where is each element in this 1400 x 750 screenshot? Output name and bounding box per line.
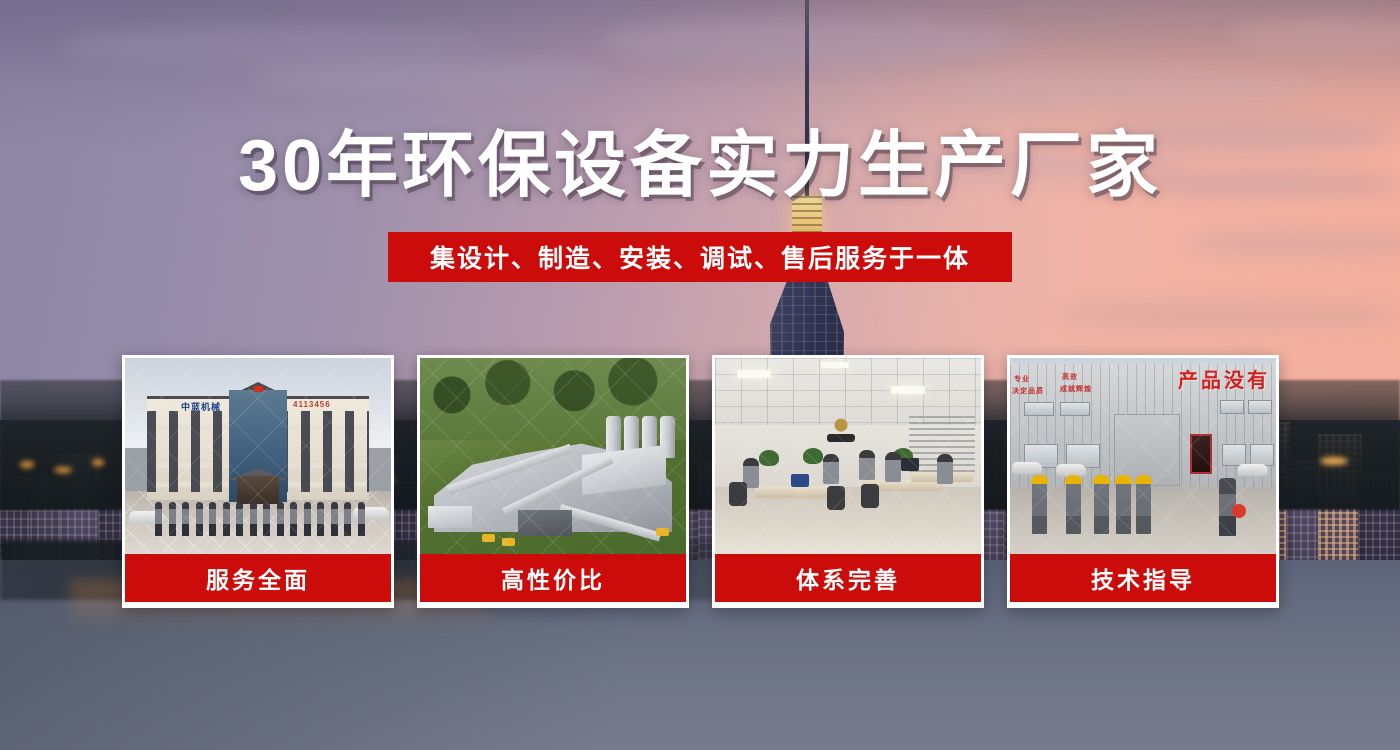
potted-plant xyxy=(759,450,779,466)
factory-window xyxy=(1250,444,1274,466)
factory-side-door xyxy=(1190,434,1212,474)
card-photo-office-building: 中蓝机械 4113456 xyxy=(125,358,391,554)
office-chair xyxy=(861,484,879,508)
promo-banner: 30年环保设备实力生产厂家 集设计、制造、安装、调试、售后服务于一体 中蓝机械 … xyxy=(0,0,1400,750)
staff-lineup xyxy=(155,502,365,536)
card-label-value: 高性价比 xyxy=(420,554,686,602)
cloud xyxy=(250,60,610,94)
feature-card-guidance[interactable]: 产品没有 专业 决定品质 高效 成就辉煌 xyxy=(1007,355,1279,608)
office-staff xyxy=(823,454,839,484)
worker xyxy=(1066,482,1081,534)
excavator xyxy=(482,534,495,542)
plant-shed xyxy=(518,510,572,536)
worker xyxy=(1136,482,1151,534)
cloud xyxy=(930,70,1310,106)
office-chair xyxy=(827,486,845,510)
wall-decal-icon xyxy=(825,416,857,442)
plant-shed xyxy=(428,506,472,528)
factory-window xyxy=(1060,402,1090,416)
factory-slogan-4: 成就辉煌 xyxy=(1060,386,1092,395)
office-chair xyxy=(729,482,747,506)
hard-hat-icon xyxy=(1135,475,1152,484)
potted-plant xyxy=(803,448,823,464)
worker xyxy=(1032,482,1047,534)
card-photo-office-interior xyxy=(715,358,981,554)
factory-window xyxy=(1220,400,1244,414)
card-label-guidance: 技术指导 xyxy=(1010,554,1276,602)
office-staff xyxy=(859,450,875,480)
factory-slogan-3: 高效 xyxy=(1062,374,1078,383)
factory-window xyxy=(1024,402,1054,416)
worker xyxy=(1116,482,1131,534)
company-phone-text: 4113456 xyxy=(293,400,331,409)
worker xyxy=(1094,482,1109,534)
subtitle-banner: 集设计、制造、安装、调试、售后服务于一体 xyxy=(388,232,1012,282)
laptop xyxy=(791,474,809,487)
ceiling-light xyxy=(891,386,925,394)
hard-hat-icon xyxy=(1031,475,1048,484)
card-label-service: 服务全面 xyxy=(125,554,391,602)
ceiling-light xyxy=(737,370,771,378)
hard-hat-icon xyxy=(1093,475,1110,484)
office-ceiling xyxy=(715,358,981,425)
hard-hat-icon xyxy=(1115,475,1132,484)
factory-window xyxy=(1248,400,1272,414)
card-photo-plant-aerial xyxy=(420,358,686,554)
page-title: 30年环保设备实力生产厂家 xyxy=(0,128,1400,206)
monitor xyxy=(901,458,919,471)
feature-card-system[interactable]: 体系完善 xyxy=(712,355,984,608)
excavator xyxy=(656,528,669,536)
office-staff xyxy=(885,452,901,482)
ceiling-light xyxy=(821,362,849,368)
car xyxy=(1012,462,1042,474)
flag-icon xyxy=(254,386,263,392)
feature-card-service[interactable]: 中蓝机械 4113456 服务全面 xyxy=(122,355,394,608)
card-photo-workers: 产品没有 专业 决定品质 高效 成就辉煌 xyxy=(1010,358,1276,554)
building-entrance xyxy=(237,476,279,504)
factory-sign-text: 产品没有 xyxy=(1178,364,1270,393)
car xyxy=(1238,464,1268,476)
factory-slogan-2: 决定品质 xyxy=(1012,388,1044,397)
card-label-system: 体系完善 xyxy=(715,554,981,602)
office-staff xyxy=(937,454,953,484)
subtitle-text: 集设计、制造、安装、调试、售后服务于一体 xyxy=(430,239,970,275)
feature-card-value[interactable]: 高性价比 xyxy=(417,355,689,608)
factory-slogan-1: 专业 xyxy=(1014,376,1030,385)
cloud xyxy=(600,18,1020,64)
feature-card-list: 中蓝机械 4113456 服务全面 xyxy=(122,355,1280,608)
company-sign-text: 中蓝机械 xyxy=(181,400,221,413)
red-helmet-icon xyxy=(1232,504,1246,518)
excavator xyxy=(502,538,515,546)
factory-window xyxy=(1222,444,1246,466)
hard-hat-icon xyxy=(1065,475,1082,484)
